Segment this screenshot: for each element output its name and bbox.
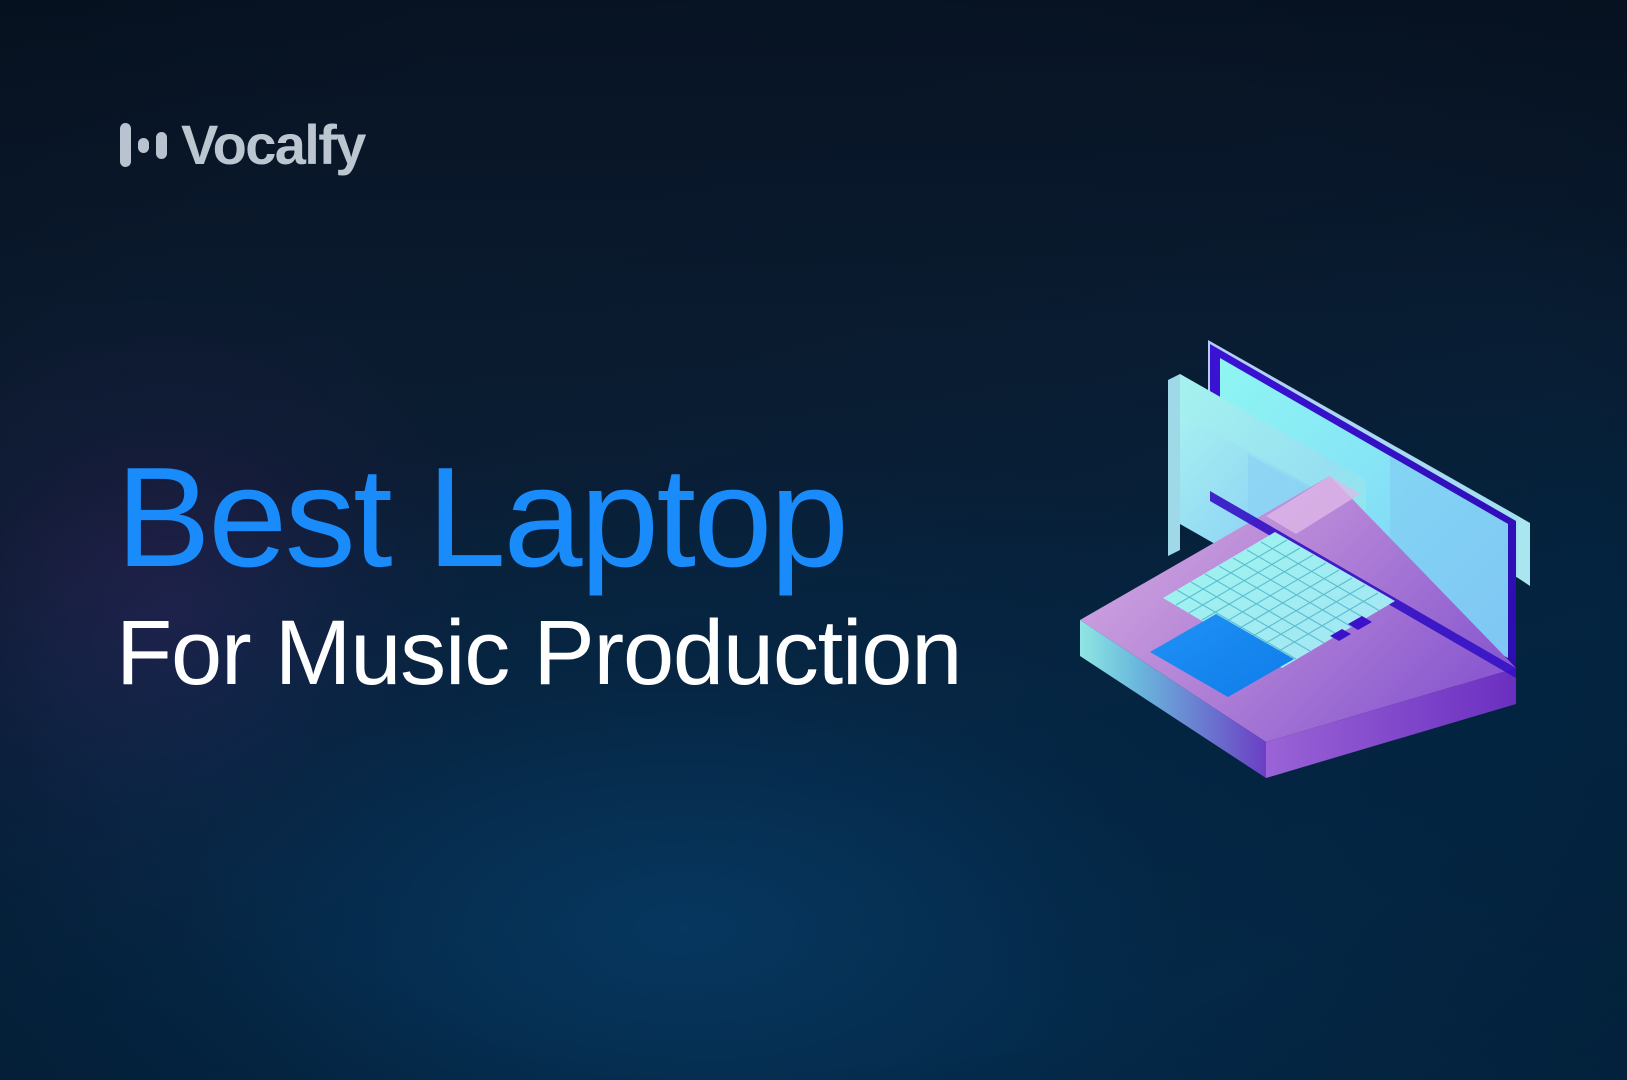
page-title: Best Laptop [116,448,1096,589]
laptop-lid-edge-right [1518,516,1530,586]
sound-wave-bar-2 [138,138,149,153]
page-subtitle: For Music Production [116,607,1096,699]
brand-name: Vocalfy [181,117,365,173]
hero-text-block: Best Laptop For Music Production [116,448,1096,699]
isometric-laptop-illustration [1030,318,1540,788]
sound-wave-bar-1 [120,123,131,167]
hero-banner: Vocalfy Best Laptop For Music Production [0,0,1627,1080]
laptop-screen-window-shadow [1168,374,1180,556]
sound-wave-bar-3 [156,132,167,159]
sound-wave-icon [120,121,167,169]
brand-logo[interactable]: Vocalfy [120,112,365,178]
